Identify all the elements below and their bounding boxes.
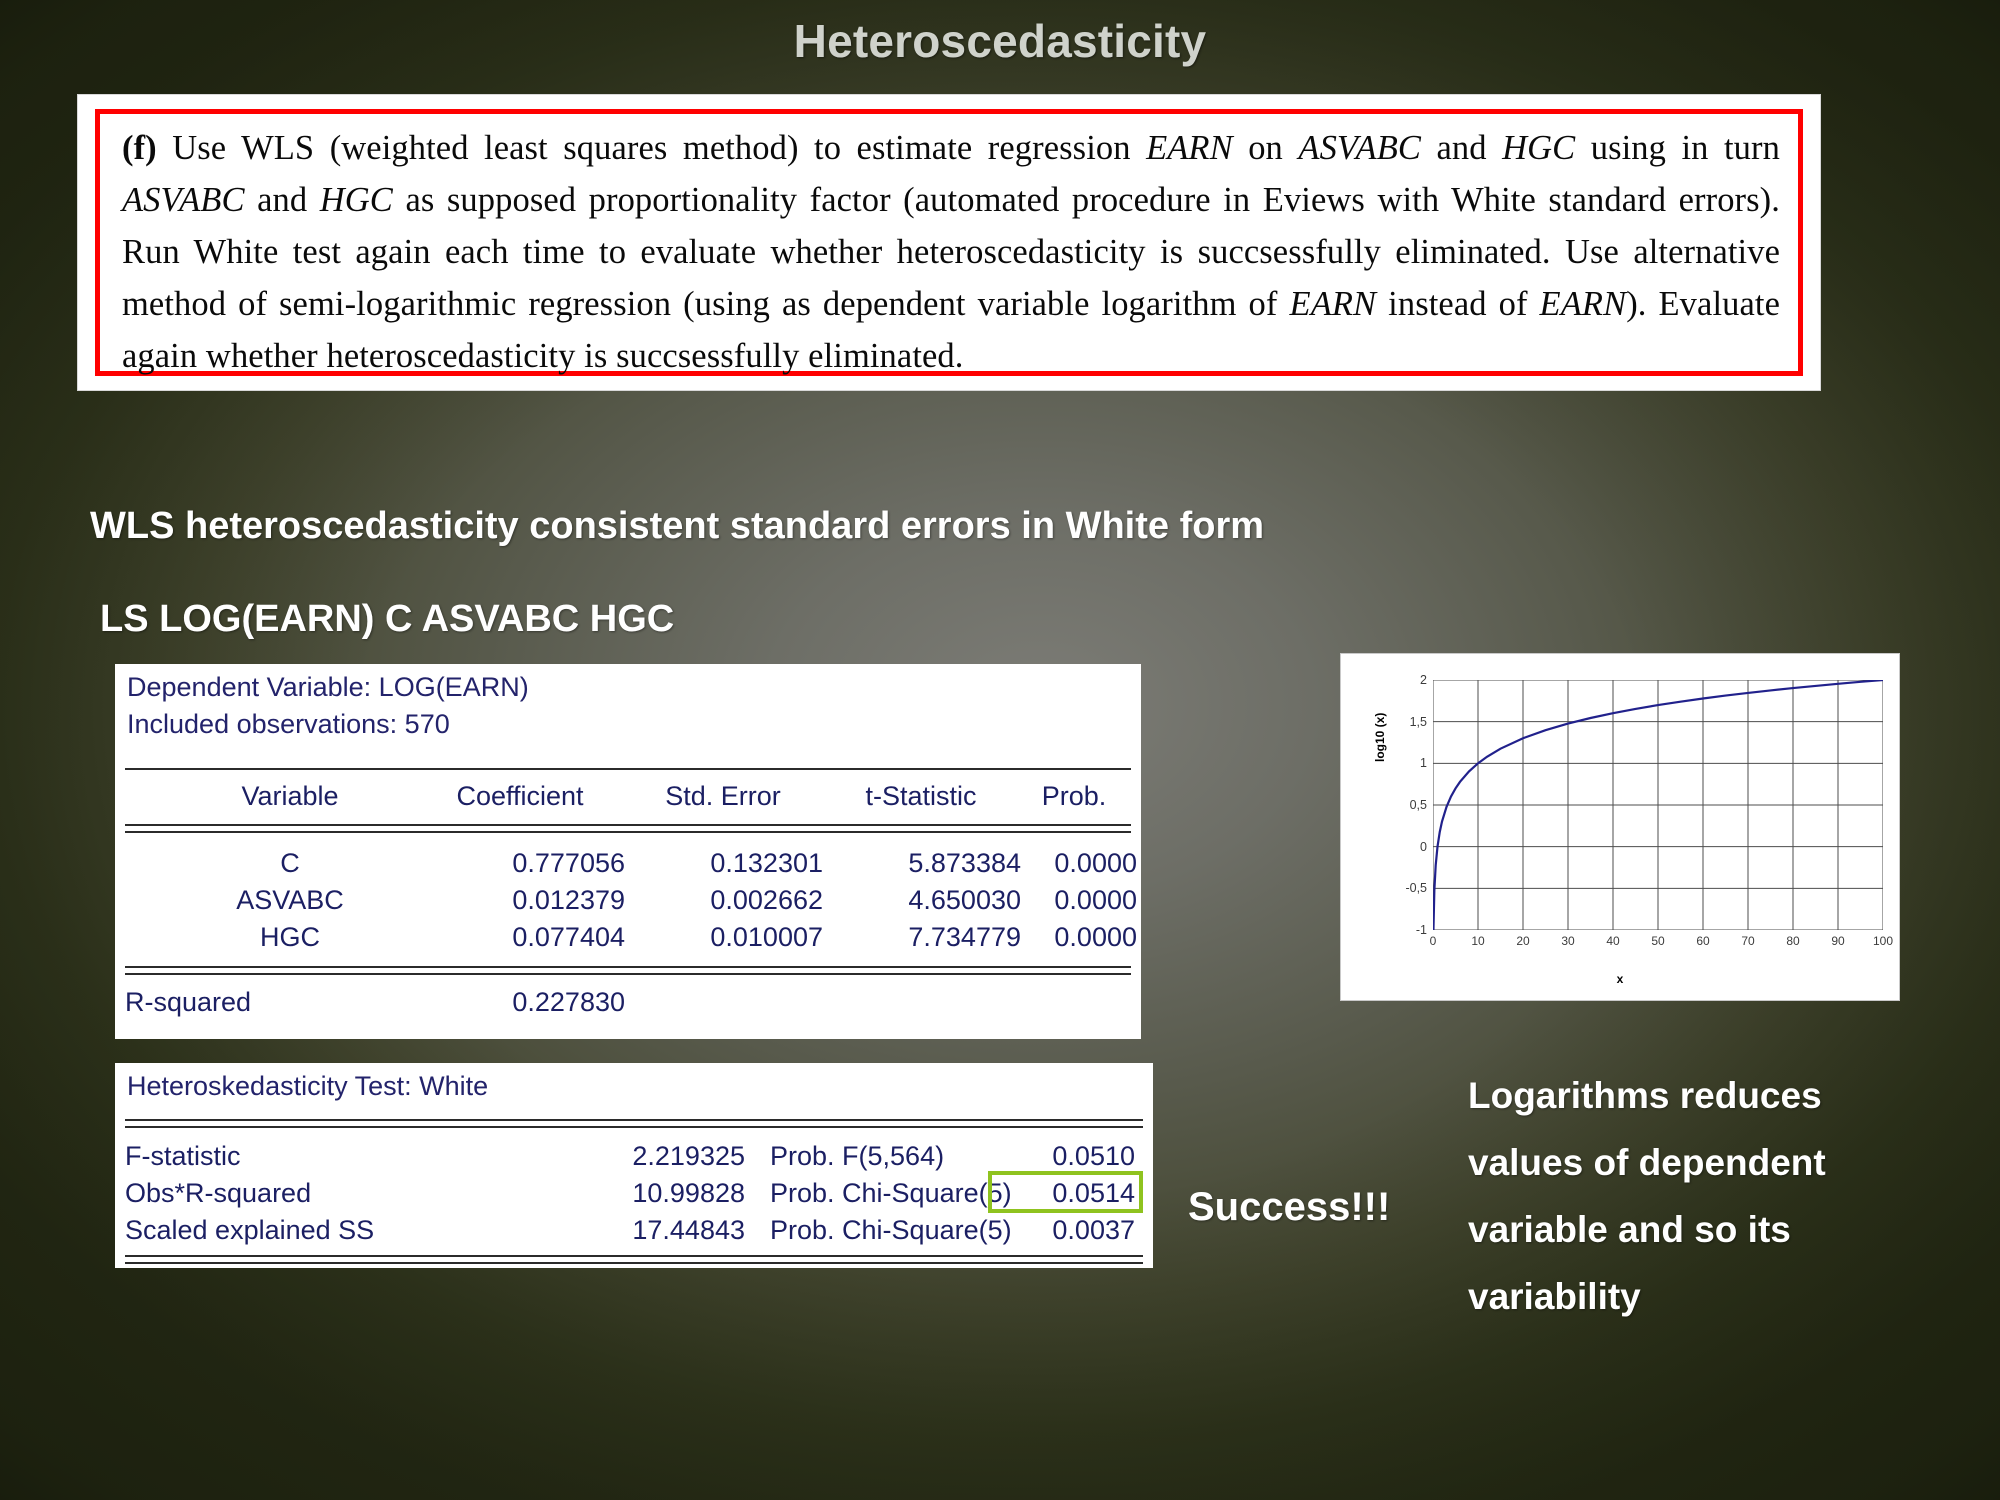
page-title: Heteroscedasticity [0, 14, 2000, 68]
chart-y-tick: -1 [1355, 923, 1427, 937]
r-squared-value: 0.227830 [415, 987, 625, 1018]
white-row1-prob-label: Prob. Chi-Square(5) [770, 1178, 1012, 1209]
headline-wls-white-form: WLS heteroscedasticity consistent standa… [90, 505, 1264, 548]
chart-x-tick: 80 [1786, 934, 1799, 948]
chart-y-tick: 1 [1355, 756, 1427, 770]
table-rule-top [125, 768, 1131, 770]
exercise-quote-text: (f) Use WLS (weighted least squares meth… [122, 122, 1780, 382]
quote-segment: instead of [1376, 285, 1539, 323]
chart-x-axis-label: x [1355, 972, 1885, 986]
quote-segment: on [1233, 129, 1299, 167]
chart-x-tick: 100 [1873, 934, 1893, 948]
white-row2-prob: 0.0037 [995, 1215, 1135, 1246]
col-header-std-error: Std. Error [623, 781, 823, 812]
row2-t-statistic: 7.734779 [821, 922, 1021, 953]
white-rule-d [125, 1262, 1143, 1264]
row0-coefficient: 0.777056 [415, 848, 625, 879]
chart-y-tick: -0,5 [1355, 881, 1427, 895]
white-row0-prob: 0.0510 [995, 1141, 1135, 1172]
quote-segment: and [1421, 129, 1502, 167]
quote-segment: Use WLS (weighted least squares method) … [157, 129, 1146, 167]
headline-ls-command: LS LOG(EARN) C ASVABC HGC [100, 598, 674, 641]
commentary-text: Logarithms reduces values of dependent v… [1468, 1062, 1908, 1330]
chart-x-tick: 60 [1696, 934, 1709, 948]
quote-segment: HGC [320, 181, 393, 219]
row1-variable: ASVABC [175, 885, 405, 916]
quote-segment: (f) [122, 129, 157, 167]
exercise-quote-card: (f) Use WLS (weighted least squares meth… [78, 95, 1820, 390]
table-rule-header-b [125, 831, 1131, 833]
row1-prob: 0.0000 [1011, 885, 1137, 916]
white-row0-value: 2.219325 [545, 1141, 745, 1172]
log10-chart-inner: log10 (x) x 21,510,50-0,5-1 010203040506… [1355, 666, 1885, 988]
white-row1-name: Obs*R-squared [125, 1178, 311, 1209]
chart-y-tick: 1,5 [1355, 715, 1427, 729]
chart-x-tick: 90 [1831, 934, 1844, 948]
table-rule-footer-b [125, 973, 1131, 975]
white-rule-b [125, 1126, 1143, 1128]
chart-x-tick: 10 [1471, 934, 1484, 948]
chart-y-tick: 2 [1355, 673, 1427, 687]
chart-x-tick: 20 [1516, 934, 1529, 948]
col-header-t-statistic: t-Statistic [821, 781, 1021, 812]
row0-std-error: 0.132301 [623, 848, 823, 879]
r-squared-label: R-squared [125, 987, 251, 1018]
row1-t-statistic: 4.650030 [821, 885, 1021, 916]
row0-prob: 0.0000 [1011, 848, 1137, 879]
chart-x-tick: 30 [1561, 934, 1574, 948]
col-header-prob: Prob. [1011, 781, 1137, 812]
quote-segment: using in turn [1575, 129, 1780, 167]
white-row0-name: F-statistic [125, 1141, 241, 1172]
white-rule-c [125, 1255, 1143, 1257]
chart-x-tick: 70 [1741, 934, 1754, 948]
slide-root: Heteroscedasticity (f) Use WLS (weighted… [0, 0, 2000, 1500]
table-rule-header-a [125, 824, 1131, 826]
log10-chart-panel: log10 (x) x 21,510,50-0,5-1 010203040506… [1340, 653, 1900, 1001]
quote-segment: ASVABC [122, 181, 245, 219]
white-rule-a [125, 1119, 1143, 1121]
row2-variable: HGC [175, 922, 405, 953]
success-note: Success!!! [1188, 1185, 1390, 1230]
white-row1-value: 10.99828 [545, 1178, 745, 1209]
white-row2-name: Scaled explained SS [125, 1215, 374, 1246]
row2-coefficient: 0.077404 [415, 922, 625, 953]
observations-line: Included observations: 570 [127, 709, 450, 740]
quote-segment: ASVABC [1298, 129, 1421, 167]
col-header-variable: Variable [175, 781, 405, 812]
quote-segment: EARN [1290, 285, 1377, 323]
chart-y-tick: 0,5 [1355, 798, 1427, 812]
white-row0-prob-label: Prob. F(5,564) [770, 1141, 944, 1172]
row1-std-error: 0.002662 [623, 885, 823, 916]
white-test-title: Heteroskedasticity Test: White [127, 1071, 488, 1102]
eviews-regression-output: Dependent Variable: LOG(EARN) Included o… [115, 664, 1141, 1039]
highlight-box-obs-r-squared-prob [988, 1171, 1143, 1213]
chart-x-tick: 40 [1606, 934, 1619, 948]
row2-prob: 0.0000 [1011, 922, 1137, 953]
white-row2-value: 17.44843 [545, 1215, 745, 1246]
col-header-coefficient: Coefficient [415, 781, 625, 812]
quote-segment: EARN [1540, 285, 1627, 323]
quote-segment: and [245, 181, 320, 219]
row2-std-error: 0.010007 [623, 922, 823, 953]
chart-x-tick: 50 [1651, 934, 1664, 948]
white-row2-prob-label: Prob. Chi-Square(5) [770, 1215, 1012, 1246]
row0-variable: C [175, 848, 405, 879]
log10-curve-svg [1433, 680, 1883, 930]
chart-y-tick: 0 [1355, 840, 1427, 854]
exercise-quote-border: (f) Use WLS (weighted least squares meth… [95, 109, 1803, 376]
row0-t-statistic: 5.873384 [821, 848, 1021, 879]
eviews-white-test-output: Heteroskedasticity Test: White F-statist… [115, 1063, 1153, 1268]
quote-segment: EARN [1146, 129, 1233, 167]
quote-segment: HGC [1502, 129, 1575, 167]
table-rule-footer-a [125, 966, 1131, 968]
row1-coefficient: 0.012379 [415, 885, 625, 916]
dependent-variable-line: Dependent Variable: LOG(EARN) [127, 672, 529, 703]
chart-x-tick: 0 [1430, 934, 1437, 948]
